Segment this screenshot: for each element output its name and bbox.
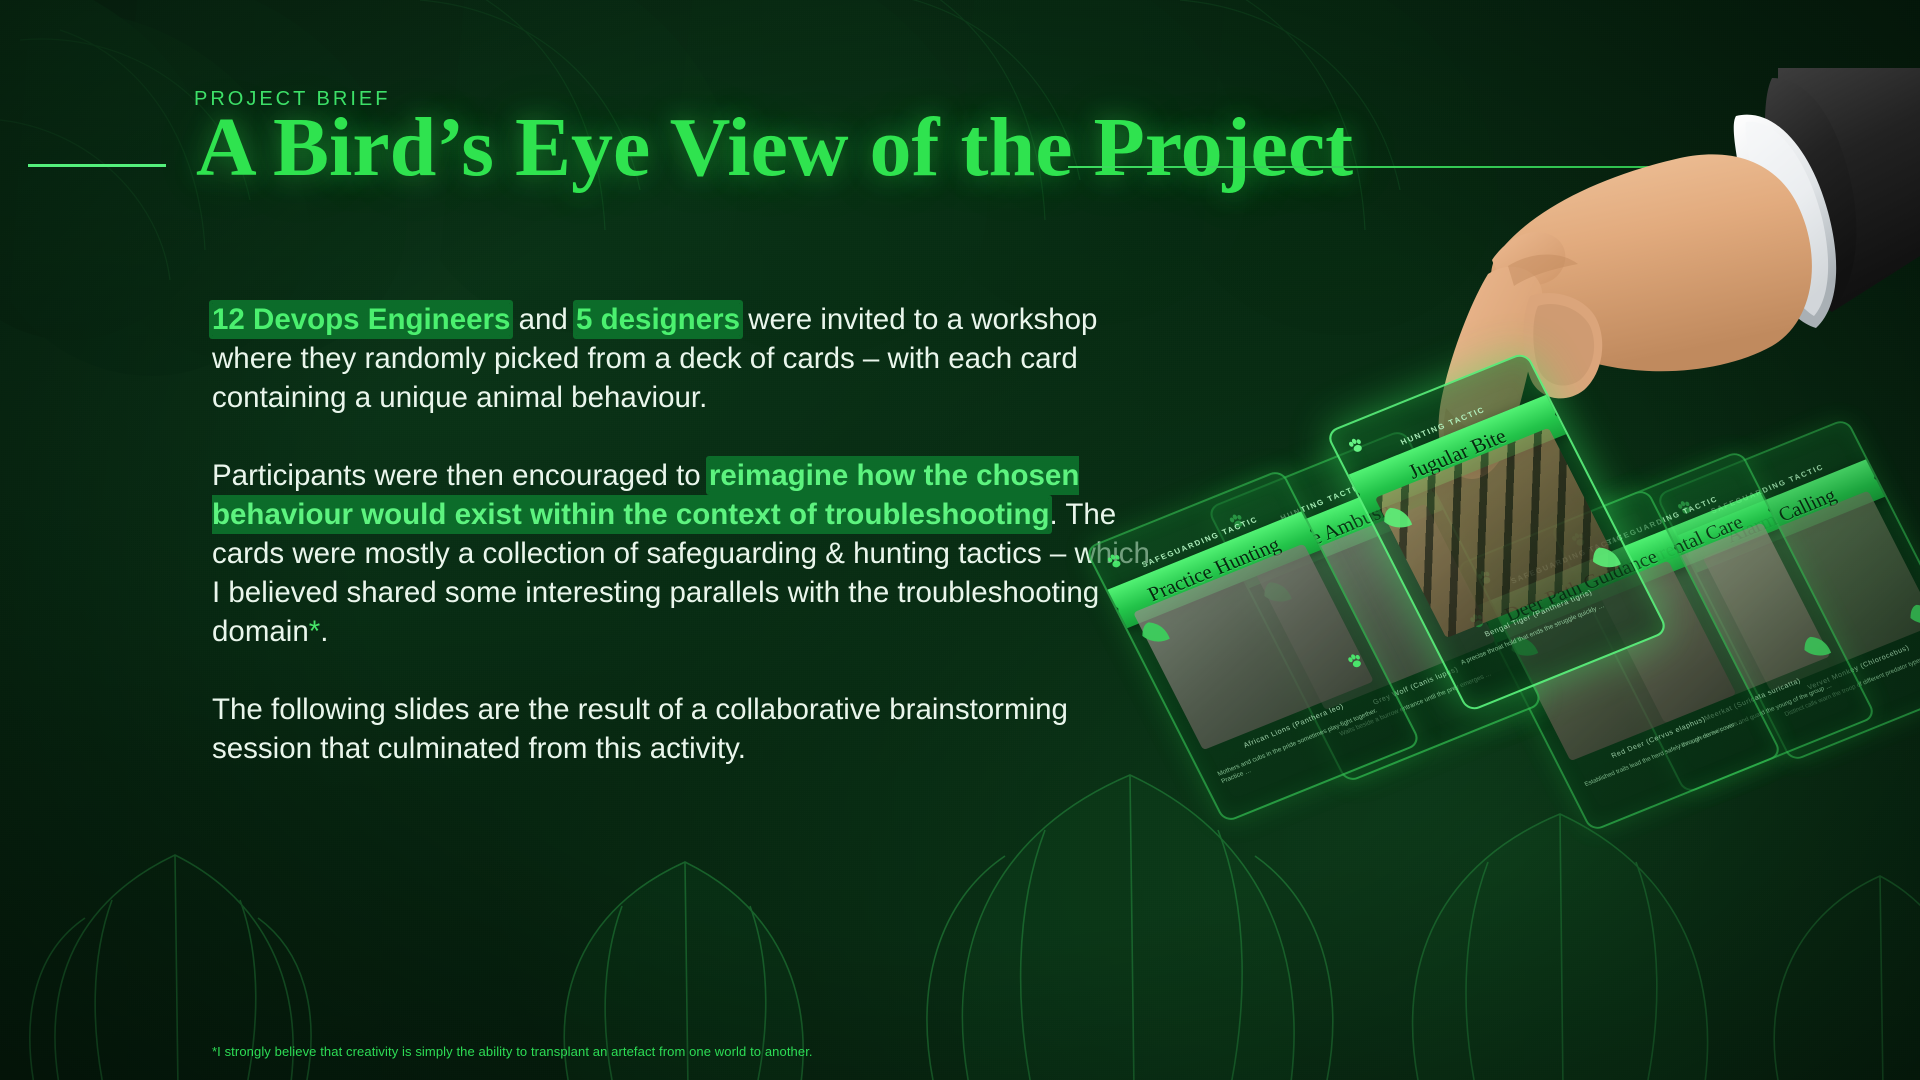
p2-tail: .	[320, 615, 328, 648]
slide-canvas: PROJECT BRIEF A Bird’s Eye View of the P…	[0, 0, 1920, 1080]
paragraph-1: 12 Devops Engineers and 5 designers were…	[212, 300, 1152, 417]
p2-lead: Participants were then encouraged to	[212, 459, 709, 492]
card-stack: SAFEGUARDING TACTIC Alarm Calling Vervet…	[1150, 400, 1920, 820]
paragraph-2: Participants were then encouraged to rei…	[212, 456, 1152, 651]
footnote-marker: *	[309, 615, 320, 648]
page-title: A Bird’s Eye View of the Project	[196, 106, 1353, 190]
paragraph-3: The following slides are the result of a…	[212, 690, 1152, 768]
rule-left	[28, 164, 166, 167]
highlight-designers: 5 designers	[576, 303, 740, 336]
footnote-text: *I strongly believe that creativity is s…	[212, 1044, 813, 1059]
highlight-engineers: 12 Devops Engineers	[212, 303, 510, 336]
body-copy: 12 Devops Engineers and 5 designers were…	[212, 300, 1152, 768]
p1-mid: and	[510, 303, 576, 336]
